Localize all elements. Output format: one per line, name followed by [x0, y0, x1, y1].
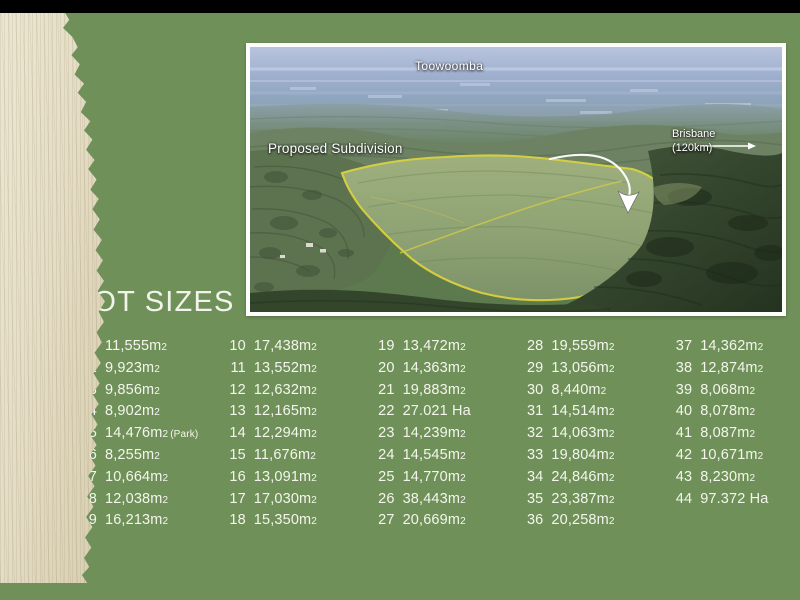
lot-area: 13,552m — [254, 360, 311, 376]
aerial-photo-artwork — [250, 47, 782, 312]
lot-row: 2720,669m2 — [370, 512, 519, 534]
lot-row: 3523,387m2 — [518, 491, 667, 513]
lot-row: 2227.021 Ha — [370, 403, 519, 425]
lot-number: 39 — [667, 382, 692, 398]
lot-area: 20,258m — [551, 512, 608, 528]
lot-area-unit-exponent: 2 — [154, 364, 160, 375]
lot-number: 17 — [221, 491, 246, 507]
lot-row: 1312,165m2 — [221, 403, 370, 425]
lot-number: 42 — [667, 447, 692, 463]
lot-area-unit-exponent: 2 — [154, 451, 160, 462]
lot-area: 24,846m — [551, 469, 608, 485]
lot-number: 37 — [667, 338, 692, 354]
lot-column-4: 2819,559m22913,056m2308,440m23114,514m23… — [518, 338, 667, 534]
slide-canvas: Toowoomba Proposed Subdivision Brisbane … — [0, 0, 800, 600]
lot-area-unit-exponent: 2 — [311, 429, 317, 440]
lot-area: 12,632m — [254, 382, 311, 398]
lot-area-unit-exponent: 2 — [162, 473, 168, 484]
lot-area: 20,669m — [403, 512, 460, 528]
lot-number: 43 — [667, 469, 692, 485]
lot-number: 36 — [518, 512, 543, 528]
lot-area: 17,438m — [254, 338, 311, 354]
lot-row: 2414,545m2 — [370, 447, 519, 469]
lot-number: 20 — [370, 360, 395, 376]
lot-area: 8,078m — [700, 403, 749, 419]
lot-area: 12,038m — [105, 491, 162, 507]
lot-row: 418,087m2 — [667, 425, 787, 447]
lot-number: 24 — [370, 447, 395, 463]
lot-area-unit-exponent: 2 — [311, 516, 317, 527]
lot-area-unit-exponent: 2 — [154, 407, 160, 418]
lot-area: 16,213m — [105, 512, 162, 528]
lot-number: 12 — [221, 382, 246, 398]
lot-number: 26 — [370, 491, 395, 507]
lot-area: 14,362m — [700, 338, 757, 354]
lot-area-unit-exponent: 2 — [609, 342, 615, 353]
lot-area-unit-exponent: 2 — [758, 342, 764, 353]
lot-area-unit-exponent: 2 — [609, 451, 615, 462]
lot-area: 15,350m — [254, 512, 311, 528]
lot-number: 14 — [221, 425, 246, 441]
lot-row: 1717,030m2 — [221, 491, 370, 513]
lot-area-unit-exponent: 2 — [162, 516, 168, 527]
lot-area-unit-exponent: 2 — [161, 342, 167, 353]
lot-number: 11 — [221, 360, 246, 376]
lot-area: 8,230m — [700, 469, 749, 485]
lot-area: 19,559m — [551, 338, 608, 354]
lot-row: 3424,846m2 — [518, 469, 667, 491]
aerial-photo-frame: Toowoomba Proposed Subdivision Brisbane … — [246, 43, 786, 316]
lot-area-unit-exponent: 2 — [460, 473, 466, 484]
lot-area-unit-exponent: 2 — [460, 429, 466, 440]
lot-number: 34 — [518, 469, 543, 485]
lot-area: 23,387m — [551, 491, 608, 507]
lot-area-unit-exponent: 2 — [460, 364, 466, 375]
lot-column-5: 3714,362m23812,874m2398,068m2408,078m241… — [667, 338, 787, 534]
lot-row: 1017,438m2 — [221, 338, 370, 360]
lot-row: 2014,363m2 — [370, 360, 519, 382]
lot-number: 41 — [667, 425, 692, 441]
lot-area-unit-exponent: 2 — [154, 386, 160, 397]
lot-area: 10,671m — [700, 447, 757, 463]
lot-row: 1815,350m2 — [221, 512, 370, 534]
lot-row: 1212,632m2 — [221, 382, 370, 404]
lot-number: 10 — [221, 338, 246, 354]
lot-row: 2514,770m2 — [370, 469, 519, 491]
lot-area-unit-exponent: 2 — [310, 451, 316, 462]
torn-paper-texture — [0, 13, 105, 583]
lot-area: 13,056m — [551, 360, 608, 376]
lot-area: 8,902m — [105, 403, 154, 419]
lot-row: 1412,294m2 — [221, 425, 370, 447]
lot-area-unit-exponent: 2 — [609, 516, 615, 527]
lot-area: 27.021 Ha — [403, 403, 471, 419]
lot-area-unit-exponent: 2 — [609, 364, 615, 375]
lot-area-unit-exponent: 2 — [311, 342, 317, 353]
lot-column-2: 1017,438m21113,552m21212,632m21312,165m2… — [221, 338, 370, 534]
lot-row: 308,440m2 — [518, 382, 667, 404]
lot-row: 3214,063m2 — [518, 425, 667, 447]
lot-area: 14,545m — [403, 447, 460, 463]
lot-row: 2913,056m2 — [518, 360, 667, 382]
lot-area-unit-exponent: 2 — [609, 473, 615, 484]
lot-column-3: 1913,472m22014,363m22119,883m22227.021 H… — [370, 338, 519, 534]
lot-area-unit-exponent: 2 — [311, 407, 317, 418]
lot-area: 14,239m — [403, 425, 460, 441]
lot-number: 22 — [370, 403, 395, 419]
lot-row: 3812,874m2 — [667, 360, 787, 382]
lot-area: 14,514m — [551, 403, 608, 419]
lot-area: 13,091m — [254, 469, 311, 485]
lot-area: 19,804m — [551, 447, 608, 463]
lot-area: 14,770m — [403, 469, 460, 485]
lot-number: 16 — [221, 469, 246, 485]
lot-area-unit-exponent: 2 — [749, 429, 755, 440]
lot-area: 19,883m — [403, 382, 460, 398]
lot-row: 1511,676m2 — [221, 447, 370, 469]
lot-number: 27 — [370, 512, 395, 528]
lot-row: 3714,362m2 — [667, 338, 787, 360]
lot-number: 15 — [221, 447, 246, 463]
lot-sizes-table: 111,555m229,923m239,856m248,902m2514,476… — [72, 338, 787, 534]
top-black-band — [0, 0, 800, 13]
lot-number: 28 — [518, 338, 543, 354]
lot-number: 40 — [667, 403, 692, 419]
lot-area: 14,063m — [551, 425, 608, 441]
lot-note: (Park) — [170, 429, 198, 440]
lot-area: 8,068m — [700, 382, 749, 398]
lot-area: 12,874m — [700, 360, 757, 376]
lot-area-unit-exponent: 2 — [311, 473, 317, 484]
lot-number: 25 — [370, 469, 395, 485]
lot-area-unit-exponent: 2 — [749, 473, 755, 484]
lot-area: 8,255m — [105, 447, 154, 463]
lot-area-unit-exponent: 2 — [460, 516, 466, 527]
lot-area: 9,856m — [105, 382, 154, 398]
lot-area-unit-exponent: 2 — [609, 495, 615, 506]
lot-number: 44 — [667, 491, 692, 507]
lot-number: 30 — [518, 382, 543, 398]
lot-number: 35 — [518, 491, 543, 507]
lot-area-unit-exponent: 2 — [601, 386, 607, 397]
lot-row: 4497.372 Ha — [667, 491, 787, 513]
lot-row: 1113,552m2 — [221, 360, 370, 382]
lot-area: 17,030m — [254, 491, 311, 507]
lot-row: 2314,239m2 — [370, 425, 519, 447]
lot-number: 19 — [370, 338, 395, 354]
lot-area-unit-exponent: 2 — [749, 407, 755, 418]
lot-number: 18 — [221, 512, 246, 528]
lot-row: 2638,443m2 — [370, 491, 519, 513]
lot-number: 32 — [518, 425, 543, 441]
lot-area-unit-exponent: 2 — [311, 364, 317, 375]
lot-area-unit-exponent: 2 — [758, 364, 764, 375]
lot-area: 12,165m — [254, 403, 311, 419]
lot-area: 38,443m — [403, 491, 460, 507]
lot-row: 2819,559m2 — [518, 338, 667, 360]
lot-area-unit-exponent: 2 — [311, 495, 317, 506]
lot-row: 408,078m2 — [667, 403, 787, 425]
lot-number: 13 — [221, 403, 246, 419]
lot-number: 38 — [667, 360, 692, 376]
lot-row: 3319,804m2 — [518, 447, 667, 469]
lot-area-unit-exponent: 2 — [460, 451, 466, 462]
lot-row: 4210,671m2 — [667, 447, 787, 469]
lot-number: 33 — [518, 447, 543, 463]
lot-area: 14,476m — [105, 425, 162, 441]
lot-area-unit-exponent: 2 — [460, 386, 466, 397]
lot-number: 23 — [370, 425, 395, 441]
lot-area-unit-exponent: 2 — [460, 495, 466, 506]
lot-area-unit-exponent: 2 — [162, 429, 168, 440]
lot-number: 31 — [518, 403, 543, 419]
lot-area: 12,294m — [254, 425, 311, 441]
lot-row: 398,068m2 — [667, 382, 787, 404]
lot-area-unit-exponent: 2 — [609, 407, 615, 418]
lot-row: 3620,258m2 — [518, 512, 667, 534]
lot-area: 13,472m — [403, 338, 460, 354]
lot-row: 438,230m2 — [667, 469, 787, 491]
lot-area: 14,363m — [403, 360, 460, 376]
lot-area: 11,676m — [254, 447, 310, 463]
aerial-photo: Toowoomba Proposed Subdivision Brisbane … — [250, 47, 782, 312]
lot-row: 2119,883m2 — [370, 382, 519, 404]
lot-area: 8,440m — [551, 382, 600, 398]
lot-area-unit-exponent: 2 — [609, 429, 615, 440]
lot-area-unit-exponent: 2 — [460, 342, 466, 353]
lot-area: 8,087m — [700, 425, 749, 441]
lot-area: 11,555m — [105, 338, 161, 354]
lot-area-unit-exponent: 2 — [758, 451, 764, 462]
lot-row: 1913,472m2 — [370, 338, 519, 360]
lot-number: 21 — [370, 382, 395, 398]
lot-area-unit-exponent: 2 — [311, 386, 317, 397]
lot-number: 29 — [518, 360, 543, 376]
lot-area-unit-exponent: 2 — [749, 386, 755, 397]
torn-paper-strip — [0, 13, 105, 583]
lot-row: 3114,514m2 — [518, 403, 667, 425]
lot-area: 9,923m — [105, 360, 154, 376]
lot-row: 1613,091m2 — [221, 469, 370, 491]
lot-area-unit-exponent: 2 — [162, 495, 168, 506]
lot-area: 97.372 Ha — [700, 491, 768, 507]
lot-area: 10,664m — [105, 469, 162, 485]
